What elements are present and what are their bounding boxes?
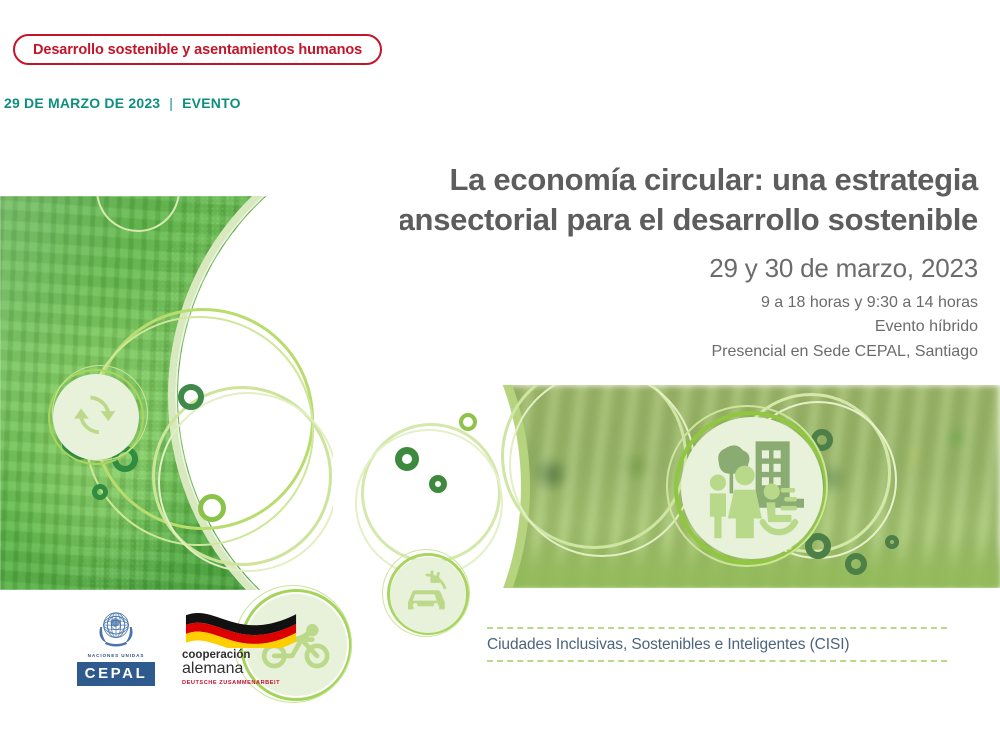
recycling-badge <box>53 374 139 460</box>
topic-tag-pill[interactable]: Desarrollo sostenible y asentamientos hu… <box>13 34 382 65</box>
event-announcement-page: Desarrollo sostenible y asentamientos hu… <box>0 0 1000 736</box>
cepal-wordmark-box: CEPAL <box>77 662 156 686</box>
un-logo-caption: NACIONES UNIDAS <box>88 653 145 658</box>
cepal-wordmark: CEPAL <box>85 666 148 681</box>
decor-ring-lime <box>198 494 226 522</box>
inclusive-city-icon <box>698 436 806 540</box>
right-ring-dark-b <box>429 475 447 493</box>
event-banner-graphic <box>0 155 1000 635</box>
program-footer: Ciudades Inclusivas, Sostenibles e Intel… <box>487 627 947 662</box>
right-ring-lime-a <box>459 413 477 431</box>
german-flag-ribbon-icon <box>182 606 300 648</box>
right-ring-dark-a <box>395 447 419 471</box>
partner-logos: NACIONES UNIDAS CEPAL cooperación aleman… <box>80 604 302 686</box>
event-date: 29 DE MARZO DE 2023 <box>4 95 160 111</box>
decor-ring-dark-upper <box>178 384 204 410</box>
meta-separator: | <box>169 95 173 111</box>
right-ring-dark-e <box>845 553 867 575</box>
event-type: EVENTO <box>182 95 241 111</box>
german-logo-line-3: DEUTSCHE ZUSAMMENARBEIT <box>182 680 302 686</box>
recycling-icon <box>69 390 123 444</box>
electric-car-icon <box>400 570 456 620</box>
un-cepal-logo: NACIONES UNIDAS CEPAL <box>80 604 152 686</box>
german-logo-line-2: alemana <box>182 661 302 678</box>
decor-ring-mid-2 <box>158 392 338 572</box>
un-emblem-icon <box>93 604 139 650</box>
right-ring-dark-f <box>885 535 899 549</box>
electric-car-badge <box>390 557 466 633</box>
decor-ring-tiny-dark <box>92 484 108 500</box>
german-cooperation-logo: cooperación alemana DEUTSCHE ZUSAMMENARB… <box>182 604 302 686</box>
inclusive-city-badge <box>681 417 823 559</box>
event-meta-line: 29 DE MARZO DE 2023 | EVENTO <box>4 95 241 111</box>
